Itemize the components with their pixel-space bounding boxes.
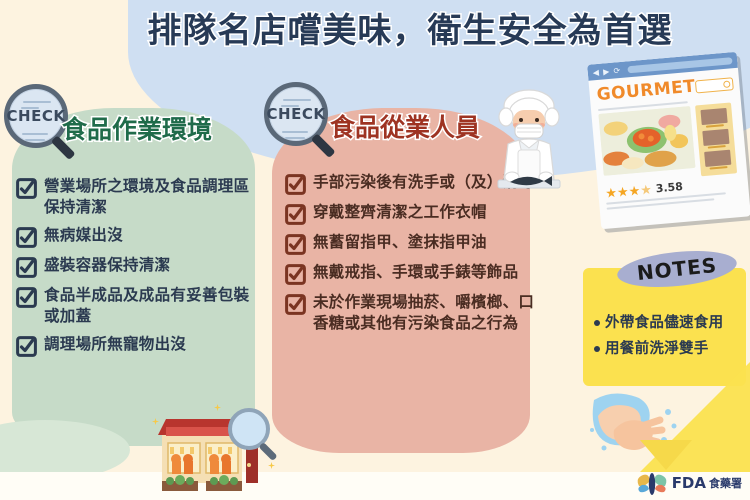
- fda-text-cn: 食藥署: [709, 475, 742, 491]
- note-item: 用餐前洗淨雙手: [594, 339, 744, 359]
- checklist-item[interactable]: 穿戴整齊清潔之工作衣帽: [285, 202, 535, 225]
- checklist-item-label: 無戴戒指、手環或手錶等飾品: [313, 262, 518, 283]
- note-item: 外帶食品儘速食用: [594, 313, 744, 333]
- magnifier-icon: [228, 408, 280, 460]
- checklist-item[interactable]: 無蓄留指甲、塗抹指甲油: [285, 232, 535, 255]
- checklist-item[interactable]: 無病媒出沒: [16, 225, 256, 248]
- fda-text: FDA: [672, 474, 706, 492]
- note-item-label: 用餐前洗淨雙手: [605, 339, 709, 359]
- checklist-item-label: 食品半成品及成品有妥善包裝或加蓋: [44, 285, 256, 327]
- checkbox-checked-icon[interactable]: [285, 294, 306, 315]
- star-half-icon: ★: [640, 183, 653, 197]
- checklist-item-label: 盛裝容器保持清潔: [44, 255, 170, 276]
- checkbox-checked-icon[interactable]: [285, 264, 306, 285]
- left-panel-heading: 食品作業環境: [62, 110, 212, 146]
- checklist-item[interactable]: 食品半成品及成品有妥善包裝或加蓋: [16, 285, 256, 327]
- chef-illustration: [492, 84, 566, 196]
- fda-logo: FDA 食藥署: [635, 468, 742, 498]
- checklist-item-label: 無病媒出沒: [44, 225, 123, 246]
- check-badge-right: CHECK: [264, 82, 336, 154]
- checklist-item-label: 調理場所無寵物出沒: [44, 334, 186, 355]
- check-badge-label: CHECK: [7, 107, 66, 125]
- fda-emblem-icon: [635, 470, 669, 496]
- bullet-icon: [594, 320, 600, 326]
- note-item-label: 外帶食品儘速食用: [605, 313, 723, 333]
- yellow-triangle-shape: [640, 440, 692, 470]
- checkbox-checked-icon[interactable]: [285, 204, 306, 225]
- checklist-item-label: 未於作業現場抽菸、嚼檳榔、口香糖或其他有污染食品之行為: [313, 292, 535, 334]
- checkbox-checked-icon[interactable]: [16, 287, 37, 308]
- bullet-icon: [594, 346, 600, 352]
- checklist-item[interactable]: 未於作業現場抽菸、嚼檳榔、口香糖或其他有污染食品之行為: [285, 292, 535, 334]
- infographic-root: 排隊名店嚐美味，衛生安全為首選 CHECK CHECK 食品作業環境 食品從業人…: [0, 0, 750, 500]
- checklist-item-label: 無蓄留指甲、塗抹指甲油: [313, 232, 487, 253]
- checkbox-checked-icon[interactable]: [16, 178, 37, 199]
- checklist-item-label: 營業場所之環境及食品調理區保持清潔: [44, 176, 256, 218]
- checkbox-checked-icon[interactable]: [285, 174, 306, 195]
- sparkle-icon: [268, 462, 275, 469]
- rating-value: 3.58: [655, 180, 683, 195]
- checklist-item[interactable]: 無戴戒指、手環或手錶等飾品: [285, 262, 535, 285]
- checkbox-checked-icon[interactable]: [16, 336, 37, 357]
- checklist-item-label: 穿戴整齊清潔之工作衣帽: [313, 202, 487, 223]
- checklist-item[interactable]: 營業場所之環境及食品調理區保持清潔: [16, 176, 256, 218]
- checkbox-checked-icon[interactable]: [285, 234, 306, 255]
- checkbox-checked-icon[interactable]: [16, 257, 37, 278]
- checkbox-checked-icon[interactable]: [16, 227, 37, 248]
- left-checklist: 營業場所之環境及食品調理區保持清潔無病媒出沒盛裝容器保持清潔食品半成品及成品有妥…: [16, 176, 256, 364]
- checklist-item[interactable]: 調理場所無寵物出沒: [16, 334, 256, 357]
- browser-nav-icons: ◀ ▶ ⟳: [592, 65, 621, 76]
- check-badge-label: CHECK: [267, 105, 326, 123]
- search-input[interactable]: [695, 77, 734, 93]
- notes-list: 外帶食品儘速食用用餐前洗淨雙手: [594, 313, 744, 365]
- food-photo: [598, 106, 695, 176]
- checklist-item[interactable]: 盛裝容器保持清潔: [16, 255, 256, 278]
- right-checklist: 手部污染後有洗手或（及）消毒穿戴整齊清潔之工作衣帽無蓄留指甲、塗抹指甲油無戴戒指…: [285, 172, 535, 341]
- right-panel-heading: 食品從業人員: [330, 108, 480, 144]
- side-listing-column: [695, 102, 737, 176]
- gourmet-browser-card[interactable]: ◀ ▶ ⟳ GOURMET: [587, 52, 750, 229]
- page-title: 排隊名店嚐美味，衛生安全為首選: [90, 6, 730, 56]
